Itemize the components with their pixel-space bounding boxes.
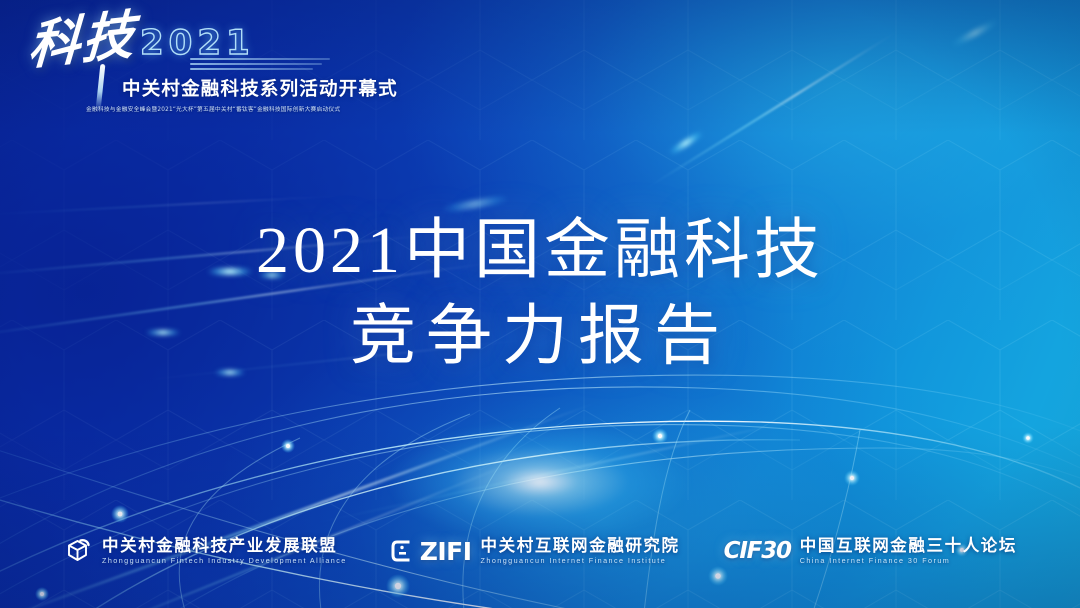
event-logo-lockup: 科技 2021 中关村金融科技系列活动开幕式 金融科技与金融安全峰会暨2021“… — [18, 20, 348, 102]
light-streak — [642, 31, 897, 192]
partner-name-cn: 中关村互联网金融研究院 — [481, 537, 680, 555]
partner-text-block: 中国互联网金融三十人论坛 China Internet Finance 30 F… — [800, 537, 1017, 564]
event-year: 2021 — [140, 26, 255, 60]
partner-name-en: China Internet Finance 30 Forum — [800, 557, 1017, 565]
zifi-bracket-icon — [391, 538, 411, 564]
light-streak — [306, 416, 815, 526]
partner-logo-row: 中关村金融科技产业发展联盟 Zhongguancun Fintech Indus… — [0, 536, 1080, 566]
cube-logo-icon — [63, 536, 93, 566]
partner-logo-alliance: 中关村金融科技产业发展联盟 Zhongguancun Fintech Indus… — [63, 536, 347, 566]
partner-text-block: 中关村互联网金融研究院 Zhongguancun Internet Financ… — [481, 537, 680, 564]
partner-name-cn: 中国互联网金融三十人论坛 — [800, 537, 1017, 555]
title-line-2: 竞争力报告 — [0, 294, 1080, 380]
micro-line — [190, 68, 313, 70]
title-line-1: 2021中国金融科技 — [0, 208, 1080, 294]
light-glint — [663, 126, 710, 159]
micro-english-text — [190, 58, 330, 73]
micro-line — [190, 63, 322, 65]
event-subline: 金融科技与金融安全峰会暨2021“光大杯”第五届中关村“番钛客”金融科技国际创新… — [86, 104, 340, 113]
partner-logo-cif30: CIF30 中国互联网金融三十人论坛 China Internet Financ… — [724, 537, 1017, 564]
light-streak — [0, 444, 558, 608]
brush-calligraphy-keji: 科技 — [27, 10, 137, 74]
partner-name-en: Zhongguancun Fintech Industry Developmen… — [102, 557, 347, 565]
poster-title: 2021中国金融科技 竞争力报告 — [0, 208, 1080, 380]
partner-name-en: Zhongguancun Internet Finance Institute — [481, 557, 680, 565]
partner-name-cn: 中关村金融科技产业发展联盟 — [102, 537, 347, 555]
micro-line — [190, 58, 330, 60]
center-glow — [390, 422, 690, 542]
light-streak — [0, 400, 599, 608]
partner-wordmark-cif30: CIF30 — [724, 540, 791, 563]
light-glint — [943, 14, 1008, 52]
partner-logo-zifi: ZIFI 中关村互联网金融研究院 Zhongguancun Internet F… — [391, 537, 680, 564]
partner-wordmark-zifi: ZIFI — [420, 539, 472, 564]
event-headline: 中关村金融科技系列活动开幕式 — [122, 75, 398, 101]
partner-text-block: 中关村金融科技产业发展联盟 Zhongguancun Fintech Indus… — [102, 537, 347, 564]
poster-canvas: 科技 2021 中关村金融科技系列活动开幕式 金融科技与金融安全峰会暨2021“… — [0, 0, 1080, 608]
